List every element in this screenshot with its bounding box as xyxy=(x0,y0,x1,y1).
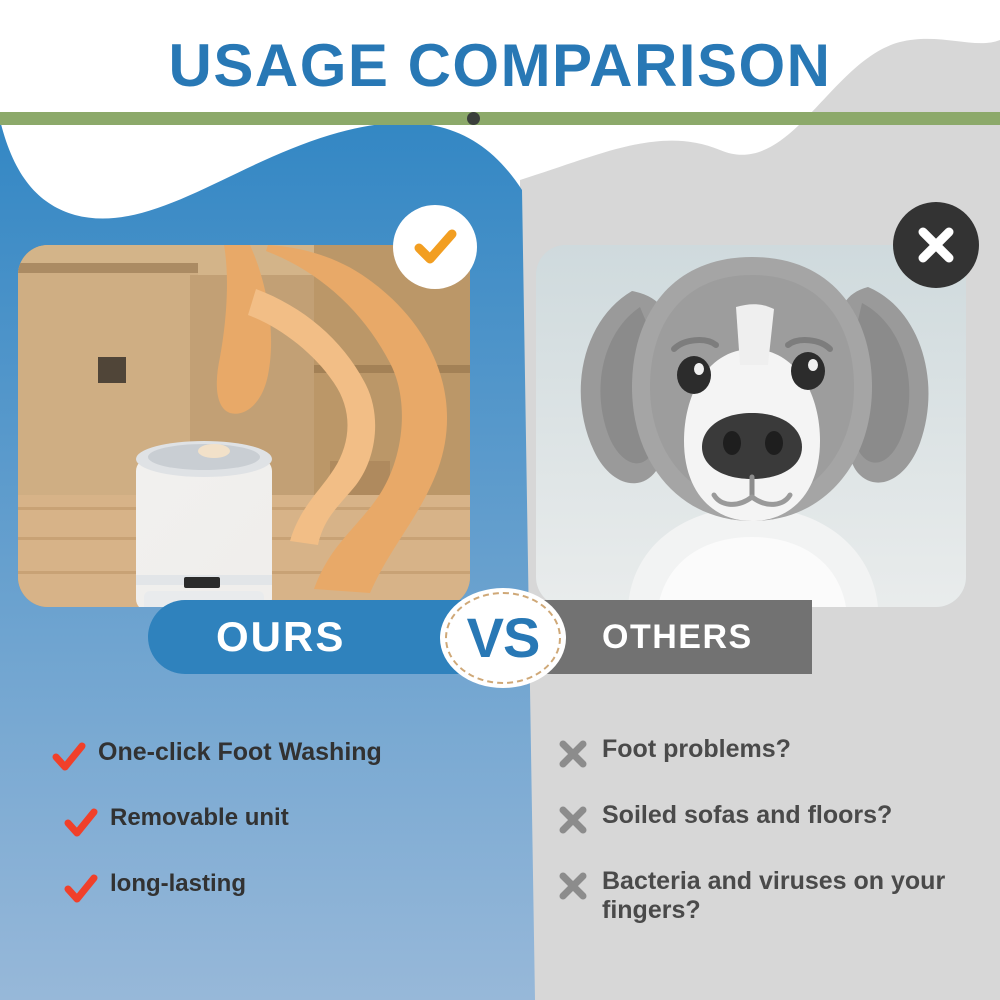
vs-badge: VS xyxy=(440,588,566,688)
list-item-label: Removable unit xyxy=(110,804,289,832)
check-icon xyxy=(64,806,98,840)
dot-1 xyxy=(467,112,480,125)
list-item: Soiled sofas and floors? xyxy=(556,801,976,837)
check-icon xyxy=(52,740,86,774)
dot-3 xyxy=(521,112,534,125)
vs-label: VS xyxy=(467,610,540,666)
cross-badge xyxy=(893,202,979,288)
ours-label: OURS xyxy=(216,613,345,661)
close-icon xyxy=(556,869,590,903)
list-item: One-click Foot Washing xyxy=(52,738,502,774)
product-photo-ours xyxy=(18,245,470,607)
check-icon xyxy=(64,872,98,906)
list-item: long-lasting xyxy=(64,870,502,906)
dot-2 xyxy=(494,112,507,125)
list-item-label: Bacteria and viruses on your fingers? xyxy=(602,867,952,925)
close-icon xyxy=(556,803,590,837)
others-label: OTHERS xyxy=(602,618,753,657)
others-feature-list: Foot problems? Soiled sofas and floors? … xyxy=(556,735,976,955)
check-icon xyxy=(410,222,460,272)
header: USAGE COMPARISON xyxy=(0,0,1000,150)
ours-feature-list: One-click Foot Washing Removable unit lo… xyxy=(52,738,502,936)
dot-decoration xyxy=(0,112,1000,125)
list-item: Foot problems? xyxy=(556,735,976,771)
close-icon xyxy=(914,223,958,267)
list-item-label: long-lasting xyxy=(110,870,246,898)
list-item-label: One-click Foot Washing xyxy=(98,738,382,767)
comparison-infographic: USAGE COMPARISON xyxy=(0,0,1000,1000)
list-item: Bacteria and viruses on your fingers? xyxy=(556,867,976,925)
list-item-label: Foot problems? xyxy=(602,735,791,764)
product-photo-others xyxy=(536,245,966,607)
list-item-label: Soiled sofas and floors? xyxy=(602,801,892,830)
page-title: USAGE COMPARISON xyxy=(0,34,1000,97)
close-icon xyxy=(556,737,590,771)
check-badge xyxy=(393,205,477,289)
list-item: Removable unit xyxy=(64,804,502,840)
